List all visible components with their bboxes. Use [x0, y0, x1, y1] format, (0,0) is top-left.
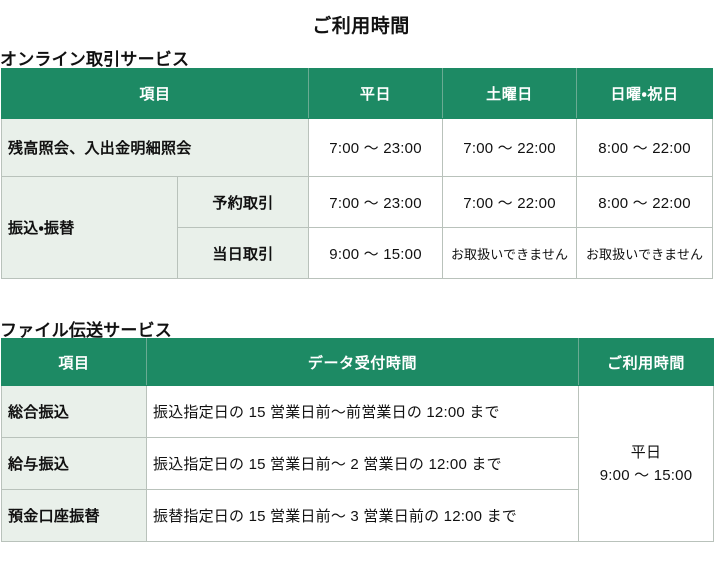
cell-usage-hours-merged: 平日9:00 ～ 15:00 [579, 386, 714, 542]
row-sublabel-reserved-transaction: 予約取引 [178, 177, 309, 228]
table-row: 残高照会、入出金明細照会 7:00 ～ 23:00 7:00 ～ 22:00 8… [2, 119, 713, 177]
cell-saturday-sameday: お取扱いできません [443, 228, 577, 279]
column-header-saturday: 土曜日 [443, 69, 577, 119]
cell-sunday-reserved: 8:00 ～ 22:00 [577, 177, 713, 228]
cell-reception-salary-transfer: 振込指定日の 15 営業日前～ 2 営業日の 12:00 まで [147, 438, 579, 490]
cell-saturday-balance: 7:00 ～ 22:00 [443, 119, 577, 177]
row-label-account-debit: 預金口座振替 [2, 490, 147, 542]
usage-hours-line-1: 平日 [631, 444, 661, 461]
table-header-row: 項目 データ受付時間 ご利用時間 [2, 339, 714, 386]
column-header-usage-hours: ご利用時間 [579, 339, 714, 386]
column-header-data-reception-time: データ受付時間 [147, 339, 579, 386]
column-header-item: 項目 [2, 339, 147, 386]
table-header-row: 項目 平日 土曜日 日曜・祝日 [2, 69, 713, 119]
page-title: ご利用時間 [0, 15, 722, 39]
column-header-sunday-holiday: 日曜・祝日 [577, 69, 713, 119]
cell-weekday-reserved: 7:00 ～ 23:00 [309, 177, 443, 228]
row-label-balance-inquiry: 残高照会、入出金明細照会 [2, 119, 309, 177]
cell-sunday-balance: 8:00 ～ 22:00 [577, 119, 713, 177]
row-label-general-transfer: 総合振込 [2, 386, 147, 438]
column-header-weekday: 平日 [309, 69, 443, 119]
table-row: 振込・振替 予約取引 7:00 ～ 23:00 7:00 ～ 22:00 8:0… [2, 177, 713, 228]
column-header-item: 項目 [2, 69, 309, 119]
usage-hours-page: ご利用時間 オンライン取引サービス 項目 平日 土曜日 日曜・祝日 残高照会、入… [0, 0, 722, 575]
row-label-transfer: 振込・振替 [2, 177, 178, 279]
row-sublabel-sameday-transaction: 当日取引 [178, 228, 309, 279]
cell-sunday-sameday: お取扱いできません [577, 228, 713, 279]
cell-saturday-reserved: 7:00 ～ 22:00 [443, 177, 577, 228]
table-row: 総合振込 振込指定日の 15 営業日前～前営業日の 12:00 まで 平日9:0… [2, 386, 714, 438]
online-service-table: 項目 平日 土曜日 日曜・祝日 残高照会、入出金明細照会 7:00 ～ 23:0… [1, 68, 713, 279]
usage-hours-line-2: 9:00 ～ 15:00 [600, 467, 692, 484]
file-transfer-table: 項目 データ受付時間 ご利用時間 総合振込 振込指定日の 15 営業日前～前営業… [1, 338, 714, 542]
cell-reception-account-debit: 振替指定日の 15 営業日前～ 3 営業日前の 12:00 まで [147, 490, 579, 542]
row-label-salary-transfer: 給与振込 [2, 438, 147, 490]
cell-weekday-balance: 7:00 ～ 23:00 [309, 119, 443, 177]
cell-weekday-sameday: 9:00 ～ 15:00 [309, 228, 443, 279]
cell-reception-general-transfer: 振込指定日の 15 営業日前～前営業日の 12:00 まで [147, 386, 579, 438]
